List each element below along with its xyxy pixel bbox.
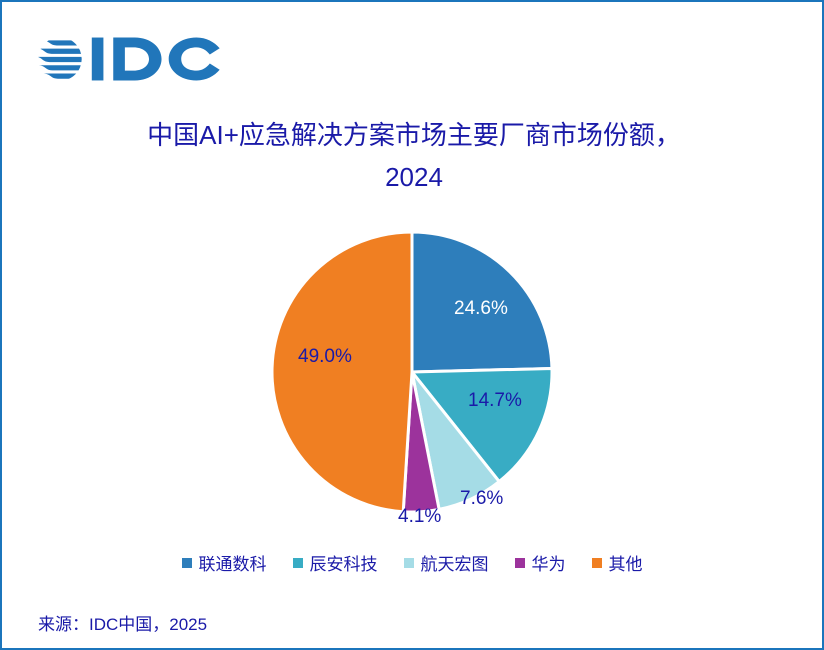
pie-slice-group xyxy=(272,232,552,512)
chart-title: 中国AI+应急解决方案市场主要厂商市场份额， 2024 xyxy=(62,114,766,198)
pie-chart xyxy=(2,220,822,550)
chart-page: 中国AI+应急解决方案市场主要厂商市场份额， 2024 24.6%14.7%7.… xyxy=(0,0,824,650)
legend-label: 辰安科技 xyxy=(310,550,378,575)
legend-item[interactable]: 联通数科 xyxy=(182,550,267,575)
legend-item[interactable]: 辰安科技 xyxy=(293,550,378,575)
legend-swatch-icon xyxy=(182,558,192,568)
pie-chart-plot-area: 24.6%14.7%7.6%4.1%49.0% xyxy=(2,220,822,550)
legend-item[interactable]: 华为 xyxy=(515,550,566,575)
legend-swatch-icon xyxy=(293,558,303,568)
legend-label: 航天宏图 xyxy=(421,550,489,575)
idc-globe-icon xyxy=(34,30,86,88)
legend-label: 其他 xyxy=(609,550,643,575)
pie-slice xyxy=(272,232,412,512)
legend-item[interactable]: 航天宏图 xyxy=(404,550,489,575)
pie-slice-value-label: 7.6% xyxy=(460,488,503,510)
legend-item[interactable]: 其他 xyxy=(592,550,643,575)
legend-swatch-icon xyxy=(592,558,602,568)
pie-slice-value-label: 14.7% xyxy=(468,390,522,412)
idc-logo xyxy=(34,28,224,90)
chart-legend: 联通数科辰安科技航天宏图华为其他 xyxy=(2,550,822,575)
source-note: 来源：IDC中国，2025 xyxy=(38,610,207,635)
idc-wordmark xyxy=(90,31,224,87)
legend-label: 华为 xyxy=(532,550,566,575)
pie-slice-value-label: 49.0% xyxy=(298,346,352,368)
legend-swatch-icon xyxy=(515,558,525,568)
legend-label: 联通数科 xyxy=(199,550,267,575)
pie-slice-value-label: 24.6% xyxy=(454,298,508,320)
legend-swatch-icon xyxy=(404,558,414,568)
pie-slice-value-label: 4.1% xyxy=(398,506,441,528)
